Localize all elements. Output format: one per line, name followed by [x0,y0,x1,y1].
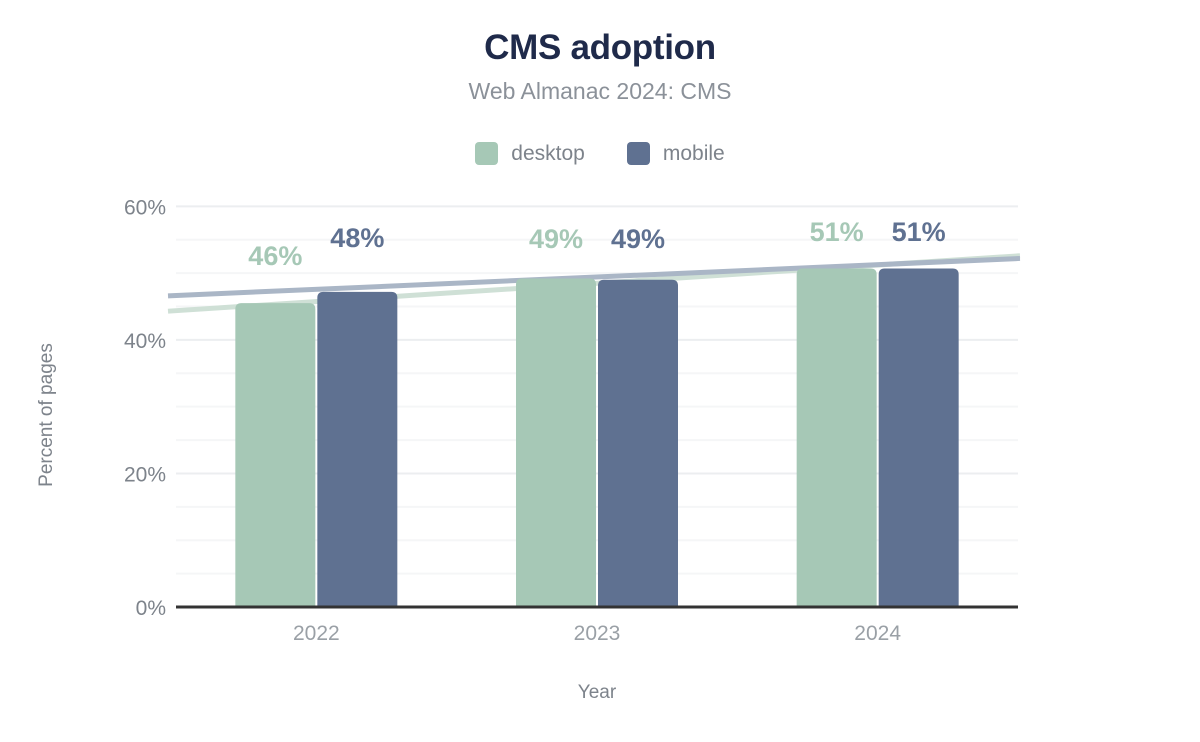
y-tick-label: 20% [124,463,166,486]
x-tick-label-2022: 2022 [293,622,340,645]
bar-label-desktop-2023: 49% [529,224,583,254]
bar-mobile-2022[interactable] [317,292,397,607]
bar-label-desktop-2022: 46% [248,241,302,271]
chart-svg: 46%48%49%49%51%51% 0%20%40%60% 202220232… [0,0,1200,742]
y-axis-title: Percent of pages [36,343,57,487]
bar-mobile-2024[interactable] [879,268,959,607]
bar-desktop-2024[interactable] [797,268,877,607]
y-tick-label: 0% [136,597,166,620]
x-axis-ticks: 202220232024 [293,622,901,645]
chart-plot-area: 46%48%49%49%51%51% 0%20%40%60% 202220232… [0,0,1200,742]
y-axis-ticks: 0%20%40%60% [124,196,166,620]
y-tick-label: 40% [124,330,166,353]
bar-desktop-2023[interactable] [516,278,596,607]
bar-desktop-2022[interactable] [235,303,315,607]
x-tick-label-2024: 2024 [854,622,901,645]
bar-label-mobile-2023: 49% [611,224,665,254]
bar-mobile-2023[interactable] [598,280,678,607]
bars [235,268,958,607]
bar-label-desktop-2024: 51% [810,217,864,247]
bar-label-mobile-2024: 51% [892,217,946,247]
y-tick-label: 60% [124,196,166,219]
x-tick-label-2023: 2023 [574,622,621,645]
bar-label-mobile-2022: 48% [330,223,384,253]
bar-value-labels: 46%48%49%49%51%51% [248,217,945,271]
x-axis-title: Year [578,682,617,703]
